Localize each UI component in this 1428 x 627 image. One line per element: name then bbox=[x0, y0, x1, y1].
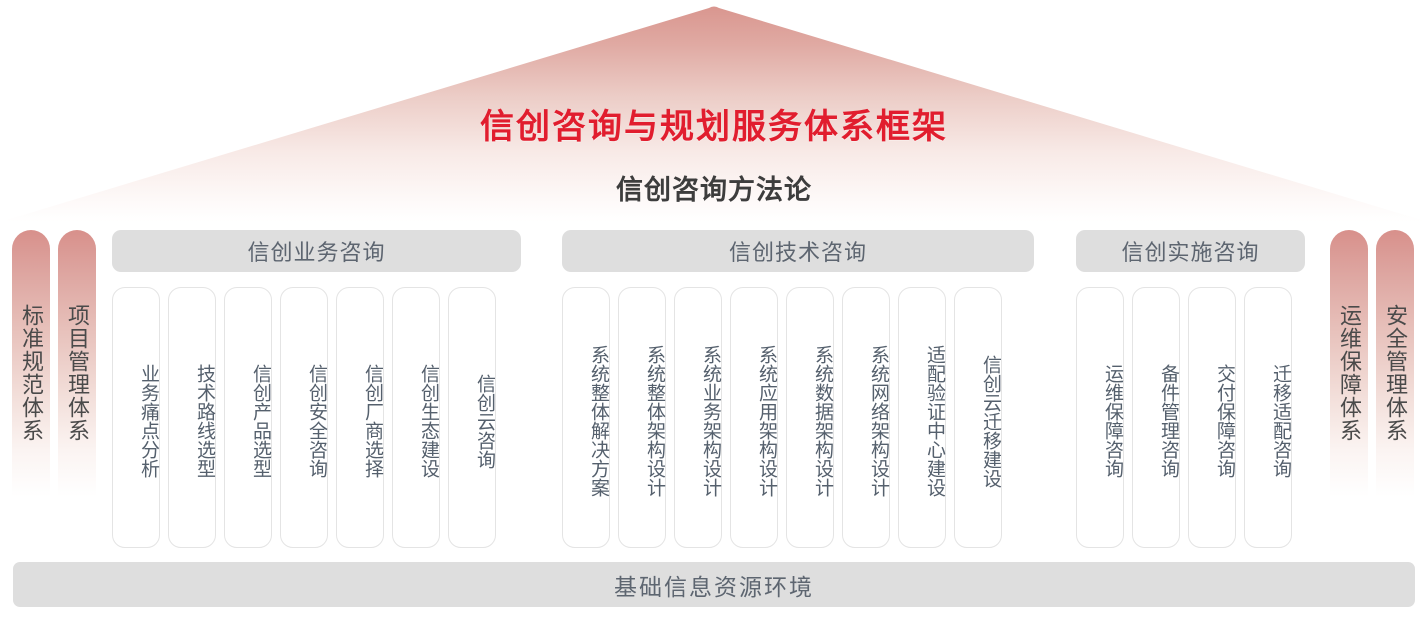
card-label: 系统整体解决方案 bbox=[563, 302, 609, 540]
card-list: 系统整体解决方案 系统整体架构设计 系统业务架构设计 系统应用架构设计 系统数据… bbox=[562, 287, 1002, 548]
card-item[interactable]: 系统数据架构设计 bbox=[786, 287, 834, 548]
group-header[interactable]: 信创实施咨询 bbox=[1076, 230, 1305, 272]
card-list: 业务痛点分析 技术路线选型 信创产品选型 信创安全咨询 信创厂商选择 信创生态建… bbox=[112, 287, 496, 548]
framework-diagram: 信创咨询与规划服务体系框架 信创咨询方法论 标准规范体系 项目管理体系 运维保障… bbox=[0, 0, 1428, 627]
card-label: 交付保障咨询 bbox=[1189, 302, 1235, 540]
group-header[interactable]: 信创技术咨询 bbox=[562, 230, 1034, 272]
page-title: 信创咨询与规划服务体系框架 bbox=[0, 99, 1428, 148]
card-label: 信创云咨询 bbox=[449, 302, 495, 540]
pillar-security-management[interactable]: 安全管理体系 bbox=[1376, 230, 1414, 520]
card-item[interactable]: 系统整体架构设计 bbox=[618, 287, 666, 548]
card-item[interactable]: 信创安全咨询 bbox=[280, 287, 328, 548]
foundation-bar[interactable]: 基础信息资源环境 bbox=[13, 562, 1415, 607]
card-item[interactable]: 信创生态建设 bbox=[392, 287, 440, 548]
card-item[interactable]: 技术路线选型 bbox=[168, 287, 216, 548]
card-item[interactable]: 信创云咨询 bbox=[448, 287, 496, 548]
card-label: 备件管理咨询 bbox=[1133, 302, 1179, 540]
card-item[interactable]: 适配验证中心建设 bbox=[898, 287, 946, 548]
group-technology-consulting: 信创技术咨询 系统整体解决方案 系统整体架构设计 系统业务架构设计 系统应用架构… bbox=[562, 230, 1034, 272]
pillar-ops-support[interactable]: 运维保障体系 bbox=[1330, 230, 1368, 520]
card-label: 信创安全咨询 bbox=[281, 302, 327, 540]
card-item[interactable]: 迁移适配咨询 bbox=[1244, 287, 1292, 548]
card-item[interactable]: 业务痛点分析 bbox=[112, 287, 160, 548]
card-label: 信创厂商选择 bbox=[337, 302, 383, 540]
card-label: 业务痛点分析 bbox=[113, 302, 159, 540]
card-item[interactable]: 交付保障咨询 bbox=[1188, 287, 1236, 548]
card-label: 系统网络架构设计 bbox=[843, 302, 889, 540]
card-label: 系统应用架构设计 bbox=[731, 302, 777, 540]
pillar-label: 安全管理体系 bbox=[1376, 304, 1414, 504]
card-item[interactable]: 系统网络架构设计 bbox=[842, 287, 890, 548]
card-item[interactable]: 备件管理咨询 bbox=[1132, 287, 1180, 548]
card-item[interactable]: 系统应用架构设计 bbox=[730, 287, 778, 548]
card-label: 信创产品选型 bbox=[225, 302, 271, 540]
group-header[interactable]: 信创业务咨询 bbox=[112, 230, 521, 272]
card-item[interactable]: 信创产品选型 bbox=[224, 287, 272, 548]
card-item[interactable]: 信创厂商选择 bbox=[336, 287, 384, 548]
card-label: 适配验证中心建设 bbox=[899, 302, 945, 540]
card-label: 技术路线选型 bbox=[169, 302, 215, 540]
card-item[interactable]: 信创云迁移建设 bbox=[954, 287, 1002, 548]
pillar-label: 标准规范体系 bbox=[12, 304, 50, 504]
pillar-project-management[interactable]: 项目管理体系 bbox=[58, 230, 96, 520]
pillar-label: 运维保障体系 bbox=[1330, 304, 1368, 504]
card-item[interactable]: 系统业务架构设计 bbox=[674, 287, 722, 548]
card-label: 信创云迁移建设 bbox=[955, 302, 1001, 540]
card-label: 信创生态建设 bbox=[393, 302, 439, 540]
group-business-consulting: 信创业务咨询 业务痛点分析 技术路线选型 信创产品选型 信创安全咨询 信创厂商选… bbox=[112, 230, 521, 272]
page-subtitle: 信创咨询方法论 bbox=[0, 168, 1428, 207]
card-label: 系统业务架构设计 bbox=[675, 302, 721, 540]
card-item[interactable]: 运维保障咨询 bbox=[1076, 287, 1124, 548]
card-list: 运维保障咨询 备件管理咨询 交付保障咨询 迁移适配咨询 bbox=[1076, 287, 1292, 548]
card-label: 系统数据架构设计 bbox=[787, 302, 833, 540]
card-label: 系统整体架构设计 bbox=[619, 302, 665, 540]
card-item[interactable]: 系统整体解决方案 bbox=[562, 287, 610, 548]
card-label: 迁移适配咨询 bbox=[1245, 302, 1291, 540]
pillar-standard-spec[interactable]: 标准规范体系 bbox=[12, 230, 50, 520]
pillar-label: 项目管理体系 bbox=[58, 304, 96, 504]
card-label: 运维保障咨询 bbox=[1077, 302, 1123, 540]
group-implementation-consulting: 信创实施咨询 运维保障咨询 备件管理咨询 交付保障咨询 迁移适配咨询 bbox=[1076, 230, 1305, 272]
